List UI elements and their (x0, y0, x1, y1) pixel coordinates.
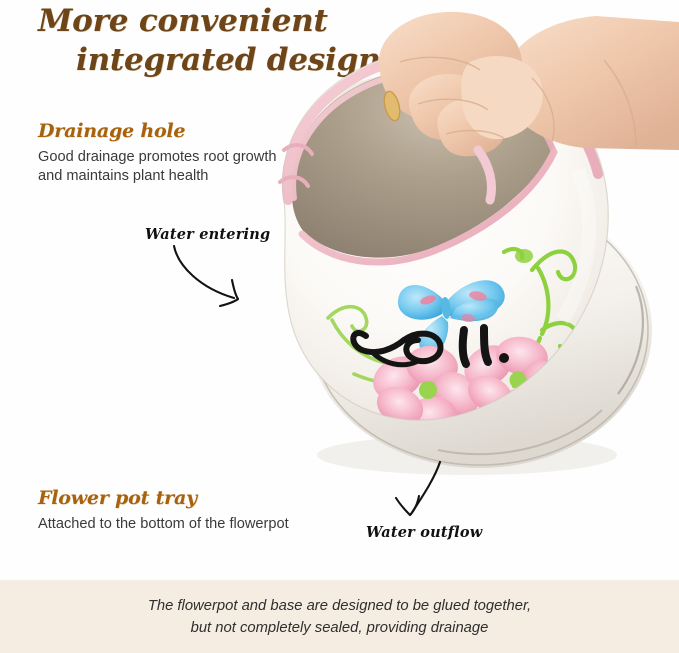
bottom-banner-text: The flowerpot and base are designed to b… (148, 595, 531, 639)
water-outflow-arrow-icon (388, 458, 458, 524)
feature-flower-pot-tray: Flower pot tray Attached to the bottom o… (38, 487, 358, 534)
bottom-banner: The flowerpot and base are designed to b… (0, 580, 679, 653)
feature-drainage-hole-body: Good drainage promotes root growth and m… (38, 148, 338, 186)
feature-drainage-hole: Drainage hole Good drainage promotes roo… (38, 120, 338, 186)
annotation-water-outflow-label: Water outflow (366, 524, 482, 541)
water-entering-arrow-icon (160, 240, 260, 310)
infographic-page: More convenient integrated design (0, 0, 679, 653)
feature-flower-pot-tray-body: Attached to the bottom of the flowerpot (38, 515, 358, 534)
feature-flower-pot-tray-heading: Flower pot tray (38, 487, 358, 509)
feature-drainage-hole-heading: Drainage hole (38, 120, 338, 142)
product-photo-flowerpot (232, 0, 679, 510)
